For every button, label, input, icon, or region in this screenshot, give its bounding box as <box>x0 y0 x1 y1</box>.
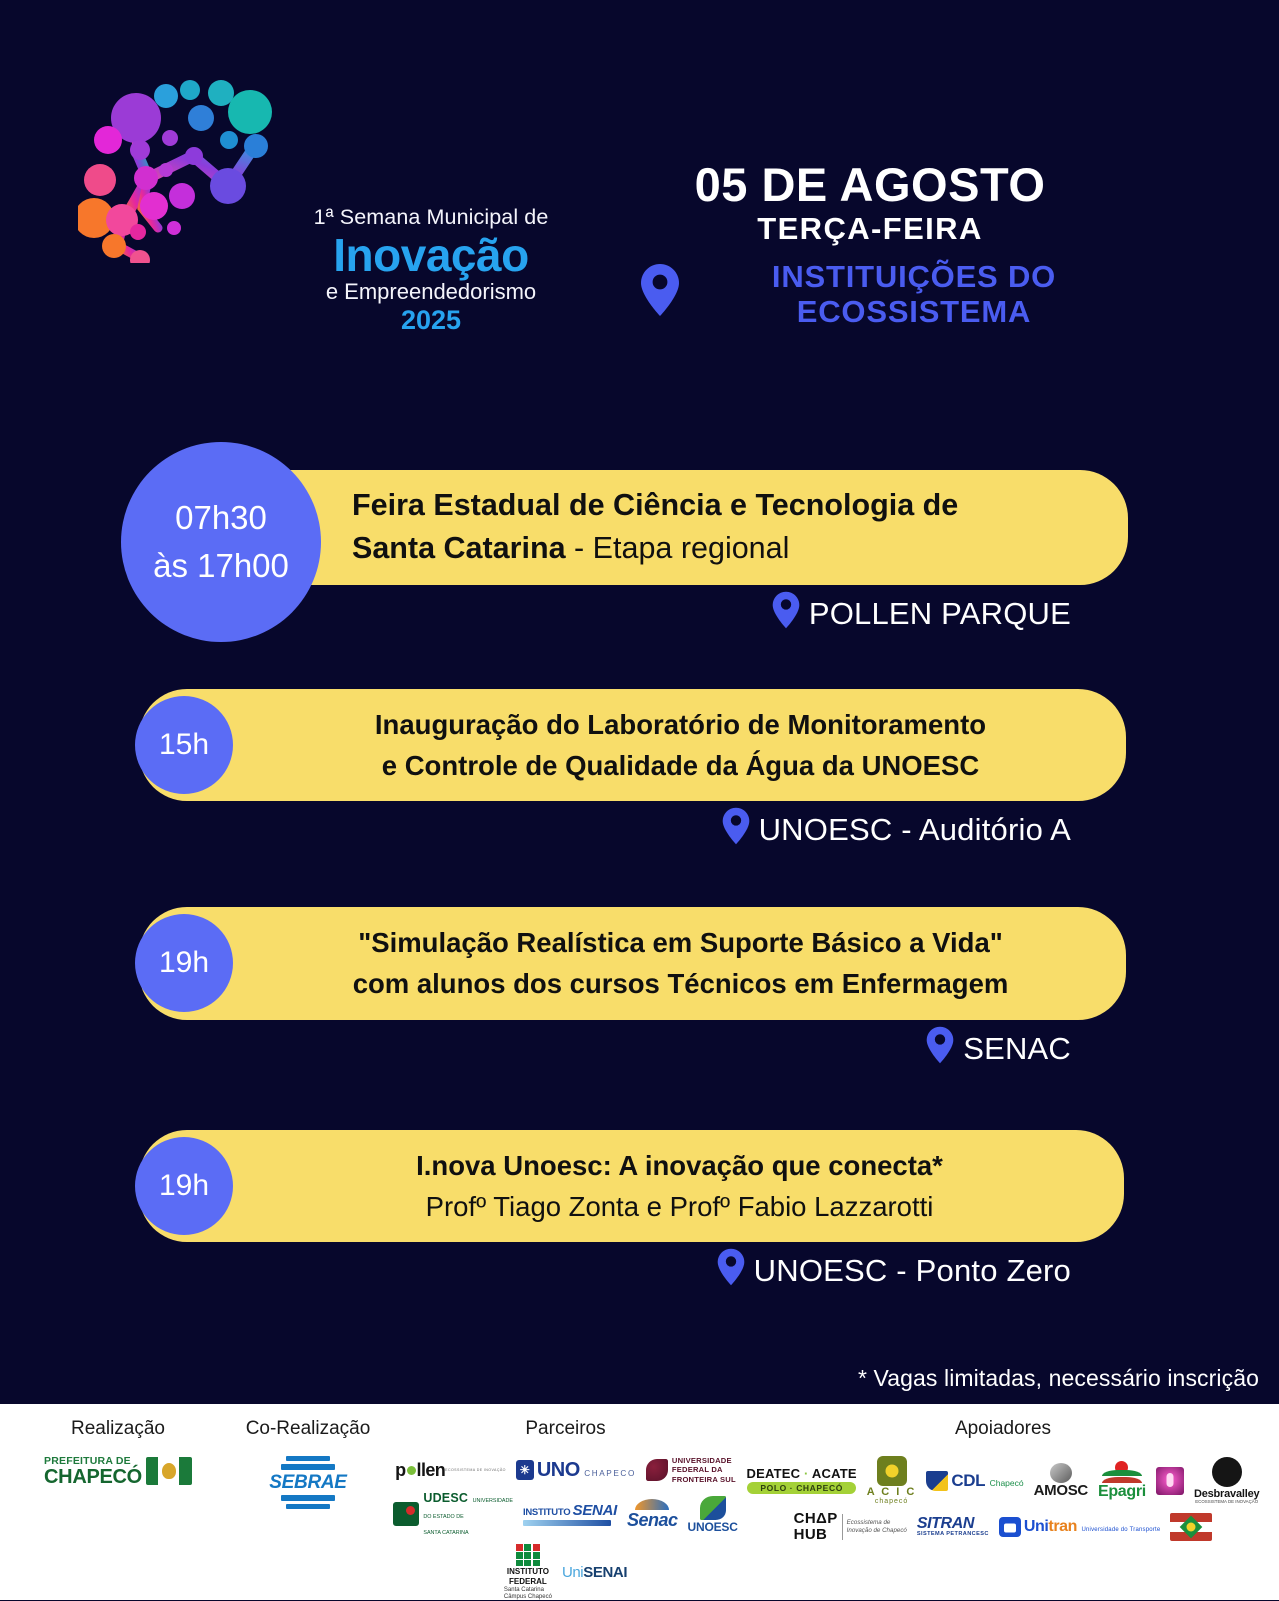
uffs-line-2: FEDERAL DA <box>672 1465 723 1474</box>
header-location-line-2: ECOSSISTEMA <box>797 294 1031 329</box>
brand-line-3: e Empreendedorismo <box>306 279 556 304</box>
logo-chap-hub: CHΔP HUB Ecossistema de Inovação de Chap… <box>794 1511 907 1543</box>
location-pin-icon <box>640 263 680 322</box>
logo-acic-chapeco: A C I C chapecó <box>867 1456 917 1505</box>
prefeitura-line-1: PREFEITURA DE <box>44 1456 142 1467</box>
uno-emblem-icon <box>516 1460 534 1480</box>
event-location-label: SENAC <box>963 1031 1071 1067</box>
acate-label: ACATE <box>812 1466 857 1481</box>
logo-uno-chapeco: UNO CHAPECO <box>516 1460 636 1480</box>
event-time-badge: 19h <box>135 1137 233 1235</box>
uno-sublabel: CHAPECO <box>584 1469 636 1478</box>
logo-instituto-senai: INSTITUTO SENAI <box>523 1503 617 1526</box>
event-title: Inauguração do Laboratório de Monitorame… <box>375 704 986 745</box>
deatec-polo-badge: POLO · CHAPECÓ <box>747 1482 856 1495</box>
schedule-list: 07h30 às 17h00 Feira Estadual de Ciência… <box>0 470 1279 1298</box>
event-title: "Simulação Realística em Suporte Básico … <box>358 922 1003 963</box>
event-title-regular-part: - Etapa regional <box>566 531 790 565</box>
event-time-line-2: às 17h00 <box>153 542 289 590</box>
sponsor-group-title: Co-Realização <box>246 1418 371 1440</box>
event-location: UNOESC - Ponto Zero <box>0 1248 1279 1294</box>
event-time-badge: 19h <box>135 914 233 1012</box>
footnote: * Vagas limitadas, necessário inscrição <box>858 1365 1259 1392</box>
pollen-rest: llen <box>417 1461 446 1479</box>
desbravalley-emblem-icon <box>1212 1457 1242 1487</box>
amosc-label: AMOSC <box>1034 1483 1088 1498</box>
event-time-line-1: 07h30 <box>175 494 267 542</box>
event-weekday: TERÇA-FEIRA <box>660 211 1080 247</box>
logo-senac: Senac <box>627 1499 678 1529</box>
innovation-network-brain-logo-icon <box>78 78 303 263</box>
event-time-line-1: 19h <box>159 1169 209 1203</box>
sponsor-group-realizacao: Realização PREFEITURA DE CHAPECÓ <box>8 1418 228 1594</box>
sebrae-bar-icon <box>281 1464 335 1470</box>
uffs-line-3: FRONTEIRA SUL <box>672 1475 736 1484</box>
event-subtitle: com alunos dos cursos Técnicos em Enferm… <box>353 963 1009 1004</box>
event-item: 15h Inauguração do Laboratório de Monito… <box>0 689 1279 854</box>
location-pin-icon <box>926 1026 954 1072</box>
event-time-line-1: 15h <box>159 728 209 762</box>
logo-sebrae: SEBRAE <box>269 1456 346 1509</box>
amosc-emblem-icon <box>1050 1463 1072 1483</box>
uffs-emblem-icon <box>646 1459 668 1481</box>
sponsor-group-corealizacao: Co-Realização SEBRAE <box>228 1418 388 1594</box>
logo-unitran: Unitran Universidade do Transporte <box>999 1517 1161 1537</box>
acic-label: A C I C <box>867 1487 917 1498</box>
brand-year: 2025 <box>306 306 556 336</box>
sponsor-group-title: Parceiros <box>525 1418 605 1440</box>
location-pin-icon <box>722 807 750 853</box>
chaphub-side-1: Ecossistema de <box>847 1519 891 1526</box>
sitran-label: SITRAN <box>917 1516 974 1532</box>
logo-udesc: UDESC UNIVERSIDADE DO ESTADO DE SANTA CA… <box>393 1490 513 1538</box>
isenai-bar-icon <box>523 1520 611 1526</box>
instituto-federal-grid-icon <box>516 1544 540 1566</box>
epagri-emblem-icon <box>1102 1461 1142 1483</box>
event-subtitle: Profº Tiago Zonta e Profº Fabio Lazzarot… <box>426 1186 934 1227</box>
event-card: Feira Estadual de Ciência e Tecnologia d… <box>206 470 1128 585</box>
udesc-emblem-icon <box>393 1502 419 1526</box>
event-location-label: POLLEN PARQUE <box>809 596 1071 632</box>
event-item: 07h30 às 17h00 Feira Estadual de Ciência… <box>0 470 1279 637</box>
brand-block: 1ª Semana Municipal de Inovação e Empree… <box>78 78 498 358</box>
cdl-sublabel: Chapecó <box>990 1478 1024 1488</box>
logo-cdl-chapeco: CDL Chapecó <box>926 1471 1023 1491</box>
sebrae-label: SEBRAE <box>269 1473 346 1492</box>
location-pin-icon <box>717 1248 745 1294</box>
isenai-label: SENAI <box>573 1502 617 1519</box>
sponsor-group-apoiadores: Apoiadores DEATEC · ACATE POLO · CHAPECÓ… <box>743 1418 1263 1594</box>
logo-instituto-federal: INSTITUTO FEDERAL Santa Catarina Câmpus … <box>504 1544 552 1601</box>
isenai-prefix: INSTITUTO <box>523 1507 573 1518</box>
event-item: 19h "Simulação Realística em Suporte Bás… <box>0 907 1279 1072</box>
event-location: SENAC <box>0 1026 1279 1072</box>
if-line-2: FEDERAL <box>509 1577 547 1586</box>
event-poster: 1ª Semana Municipal de Inovação e Empree… <box>0 0 1279 1600</box>
sponsors-footer: Realização PREFEITURA DE CHAPECÓ Co-Real… <box>0 1404 1279 1600</box>
header-location-line-1: INSTITUIÇÕES DO <box>772 259 1056 294</box>
brand-line-1: 1ª Semana Municipal de <box>306 206 556 230</box>
chaphub-line-1: CHΔP <box>794 1510 838 1527</box>
logo-prefeitura-chapeco: PREFEITURA DE CHAPECÓ <box>44 1456 192 1487</box>
sitran-sublabel: SISTEMA PETRANCESC <box>917 1532 989 1538</box>
logo-pink-square-icon <box>1156 1467 1184 1495</box>
unitran-suffix: tran <box>1048 1518 1077 1535</box>
event-time-badge: 15h <box>135 696 233 794</box>
unisenai-label: SENAI <box>583 1565 627 1580</box>
cdl-emblem-icon <box>926 1471 948 1491</box>
sebrae-bar-icon <box>286 1504 330 1509</box>
sebrae-bar-icon <box>281 1495 335 1501</box>
date-block: 05 DE AGOSTO TERÇA-FEIRA INSTITUIÇÕES DO… <box>620 160 1160 330</box>
header-location: INSTITUIÇÕES DO ECOSSISTEMA <box>620 259 1160 330</box>
event-card: I.nova Unoesc: A inovação que conecta* P… <box>139 1130 1124 1243</box>
header-location-label: INSTITUIÇÕES DO ECOSSISTEMA <box>688 259 1160 330</box>
event-time-line-1: 19h <box>159 946 209 980</box>
sponsor-group-title: Apoiadores <box>955 1418 1051 1440</box>
logo-sitran: SITRAN SISTEMA PETRANCESC <box>917 1516 989 1538</box>
event-item: 19h I.nova Unoesc: A inovação que conect… <box>0 1130 1279 1295</box>
logo-uffs: UNIVERSIDADE FEDERAL DA FRONTEIRA SUL <box>646 1456 736 1484</box>
unitran-emblem-icon <box>999 1517 1021 1537</box>
event-title: Feira Estadual de Ciência e Tecnologia d… <box>352 484 958 527</box>
deatec-separator: · <box>800 1466 812 1481</box>
event-location-label: UNOESC - Auditório A <box>759 812 1071 848</box>
logo-pollen: pllen ECOSSISTEMA DE INOVAÇÃO <box>395 1461 506 1479</box>
if-line-1: INSTITUTO <box>507 1567 549 1576</box>
chaphub-line-2: HUB <box>794 1526 828 1543</box>
uffs-line-1: UNIVERSIDADE <box>672 1456 732 1465</box>
logo-desbravalley: Desbravalley ECOSSISTEMA DE INOVAÇÃO <box>1194 1457 1259 1504</box>
unoesc-emblem-icon <box>700 1496 726 1520</box>
if-line-3: Santa Catarina <box>504 1587 544 1593</box>
logo-deatec-acate: DEATEC · ACATE POLO · CHAPECÓ <box>747 1467 857 1495</box>
prefeitura-line-2: CHAPECÓ <box>44 1467 142 1487</box>
sebrae-bar-icon <box>286 1456 330 1461</box>
event-location: UNOESC - Auditório A <box>0 807 1279 853</box>
logo-epagri: Epagri <box>1098 1461 1146 1500</box>
desbravalley-sublabel: ECOSSISTEMA DE INOVAÇÃO <box>1195 1500 1258 1504</box>
event-subtitle: e Controle de Qualidade da Água da UNOES… <box>382 745 979 786</box>
if-line-4: Câmpus <box>504 1594 526 1600</box>
cdl-label: CDL <box>951 1471 985 1490</box>
unoesc-label: UNOESC <box>688 1521 738 1533</box>
sponsor-group-parceiros: Parceiros pllen ECOSSISTEMA DE INOVAÇÃO … <box>388 1418 743 1594</box>
uno-label: UNO <box>537 1459 580 1481</box>
event-location-label: UNOESC - Ponto Zero <box>754 1253 1071 1289</box>
udesc-sub-2: DO ESTADO DE <box>423 1514 463 1520</box>
acic-emblem-icon <box>877 1456 907 1486</box>
senac-label: Senac <box>627 1511 678 1529</box>
if-line-5: Chapecó <box>528 1594 552 1600</box>
event-title-second-line: Santa Catarina - Etapa regional <box>352 527 789 570</box>
event-card: Inauguração do Laboratório de Monitorame… <box>139 689 1126 802</box>
chaphub-side-2: Inovação de Chapecó <box>847 1527 907 1534</box>
chapeco-flag-icon <box>146 1457 192 1485</box>
unisenai-prefix: Uni <box>562 1565 583 1580</box>
event-title-bold-part: Santa Catarina <box>352 531 566 565</box>
brand-line-2: Inovação <box>306 231 556 281</box>
udesc-label: UDESC <box>423 1491 468 1505</box>
poster-header: 1ª Semana Municipal de Inovação e Empree… <box>0 0 1279 370</box>
epagri-label: Epagri <box>1098 1484 1146 1500</box>
sponsor-group-title: Realização <box>71 1418 165 1440</box>
event-card: "Simulação Realística em Suporte Básico … <box>139 907 1126 1020</box>
logo-unoesc: UNOESC <box>688 1496 738 1533</box>
udesc-sub-1: UNIVERSIDADE <box>473 1498 513 1504</box>
event-title: I.nova Unoesc: A inovação que conecta* <box>416 1145 943 1186</box>
udesc-sub-3: SANTA CATARINA <box>423 1530 468 1536</box>
logo-santa-catarina-flag-icon <box>1170 1513 1212 1541</box>
pollen-tagline: ECOSSISTEMA DE INOVAÇÃO <box>445 1469 506 1473</box>
event-time-badge: 07h30 às 17h00 <box>121 442 321 642</box>
chaphub-divider <box>842 1514 843 1540</box>
logo-unisenai: UniSENAI <box>562 1565 627 1580</box>
pollen-p: p <box>395 1461 405 1479</box>
brand-text: 1ª Semana Municipal de Inovação e Empree… <box>306 206 556 335</box>
logo-amosc: AMOSC <box>1034 1463 1088 1498</box>
senac-swoosh-icon <box>635 1499 669 1510</box>
acic-sublabel: chapecó <box>875 1498 908 1505</box>
pollen-dot-icon <box>407 1466 416 1475</box>
unitran-prefix: Uni <box>1024 1518 1049 1535</box>
event-date: 05 DE AGOSTO <box>660 160 1080 209</box>
unitran-sublabel: Universidade do Transporte <box>1081 1527 1160 1533</box>
deatec-label: DEATEC <box>747 1466 801 1481</box>
location-pin-icon <box>772 591 800 637</box>
